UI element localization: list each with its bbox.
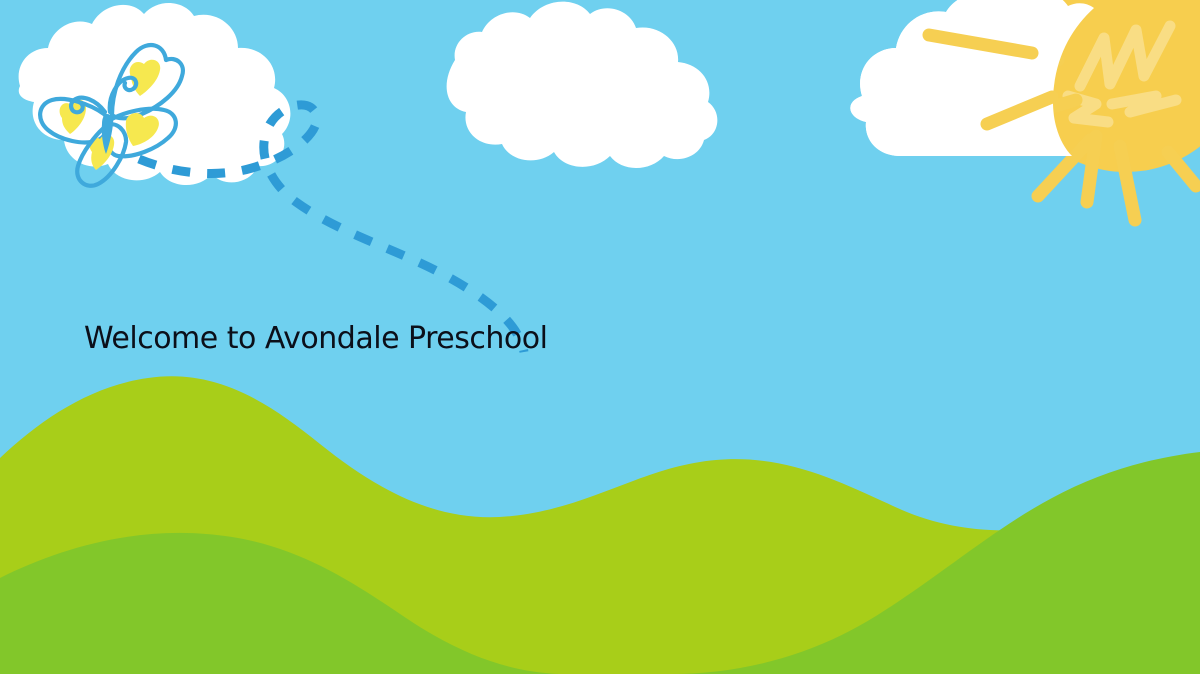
sun-ray-4 — [1087, 136, 1096, 202]
presentation-slide: Welcome to Avondale Preschool — [0, 0, 1200, 674]
scene-artwork — [0, 0, 1200, 674]
